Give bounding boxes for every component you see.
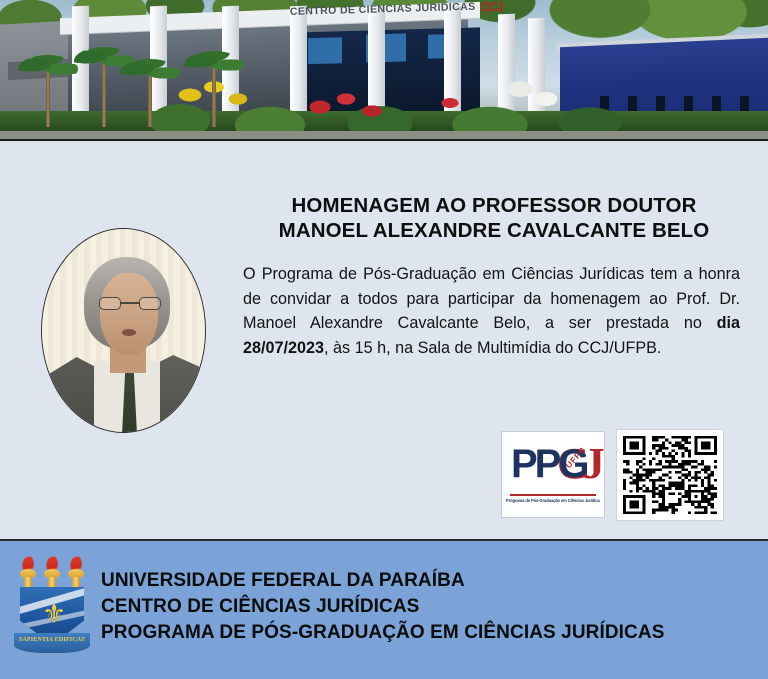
- seal-torch-icon: [42, 557, 62, 591]
- content-panel: HOMENAGEM AO PROFESSOR DOUTOR MANOEL ALE…: [0, 141, 768, 539]
- invitation-paragraph: O Programa de Pós-Graduação em Ciências …: [243, 262, 740, 361]
- invitation-text-block: O Programa de Pós-Graduação em Ciências …: [243, 262, 740, 361]
- ppgcj-logo-divider: [510, 494, 596, 496]
- seal-torch-icon: [66, 557, 86, 591]
- footer-line-program: PROGRAMA DE PÓS-GRADUAÇÃO EM CIÊNCIAS JU…: [101, 620, 664, 646]
- photo-palm-tree: [46, 71, 50, 127]
- photo-building-sign-text: CENTRO DE CIÊNCIAS JURÍDICAS: [290, 1, 476, 18]
- footer-line-university: UNIVERSIDADE FEDERAL DA PARAÍBA: [101, 568, 664, 594]
- portrait-face: [100, 273, 158, 355]
- portrait-eyeglasses: [99, 297, 161, 310]
- footer-institution-text: UNIVERSIDADE FEDERAL DA PARAÍBA CENTRO D…: [101, 568, 664, 646]
- photo-palm-tree: [212, 67, 216, 127]
- header-building-photo: CENTRO DE CIÊNCIAS JURÍDICAS CCJ: [0, 0, 768, 141]
- qr-code-image[interactable]: [623, 436, 717, 514]
- poster-title-line-1: HOMENAGEM AO PROFESSOR DOUTOR: [236, 193, 752, 218]
- honoree-portrait-photo: [41, 228, 206, 433]
- portrait-lens: [139, 297, 161, 310]
- portrait-mouth: [122, 329, 136, 336]
- invitation-text-part-1: O Programa de Pós-Graduação em Ciências …: [243, 265, 740, 332]
- ufpb-seal-logo: ⚜ SAPIENTIA EDIFICAT: [14, 557, 90, 655]
- ppgcj-logo: CJ PPG UFPB Programa de Pós-Graduação em…: [501, 431, 605, 518]
- ppgcj-logo-caption: Programa de Pós-Graduação em Ciências Ju…: [506, 498, 600, 503]
- invitation-text-part-2: , às 15 h, na Sala de Multimídia do CCJ/…: [324, 339, 661, 357]
- ppgcj-logo-mark: CJ PPG UFPB: [502, 442, 604, 490]
- poster-title: HOMENAGEM AO PROFESSOR DOUTOR MANOEL ALE…: [236, 193, 752, 243]
- ccj-logo-icon: CCJ: [480, 0, 502, 14]
- seal-ribbon: SAPIENTIA EDIFICAT: [14, 633, 90, 653]
- photo-palm-tree: [102, 63, 106, 127]
- photo-entrance-window: [308, 37, 342, 64]
- poster-title-line-2: MANOEL ALEXANDRE CAVALCANTE BELO: [236, 218, 752, 243]
- footer-banner: ⚜ SAPIENTIA EDIFICAT UNIVERSIDADE FEDERA…: [0, 539, 768, 679]
- qr-code[interactable]: [616, 429, 724, 521]
- seal-motto-text: SAPIENTIA EDIFICAT: [14, 637, 90, 643]
- fleur-de-lis-icon: ⚜: [42, 600, 62, 630]
- footer-line-center: CENTRO DE CIÊNCIAS JURÍDICAS: [101, 594, 664, 620]
- photo-palm-tree: [148, 75, 152, 127]
- poster-container: CENTRO DE CIÊNCIAS JURÍDICAS CCJ HOMENAG…: [0, 0, 768, 679]
- photo-flower-garden: [150, 77, 630, 135]
- photo-ground: [0, 131, 768, 139]
- portrait-lens: [99, 297, 121, 310]
- portrait-glasses-bridge: [121, 302, 139, 304]
- seal-torch-icon: [18, 557, 38, 591]
